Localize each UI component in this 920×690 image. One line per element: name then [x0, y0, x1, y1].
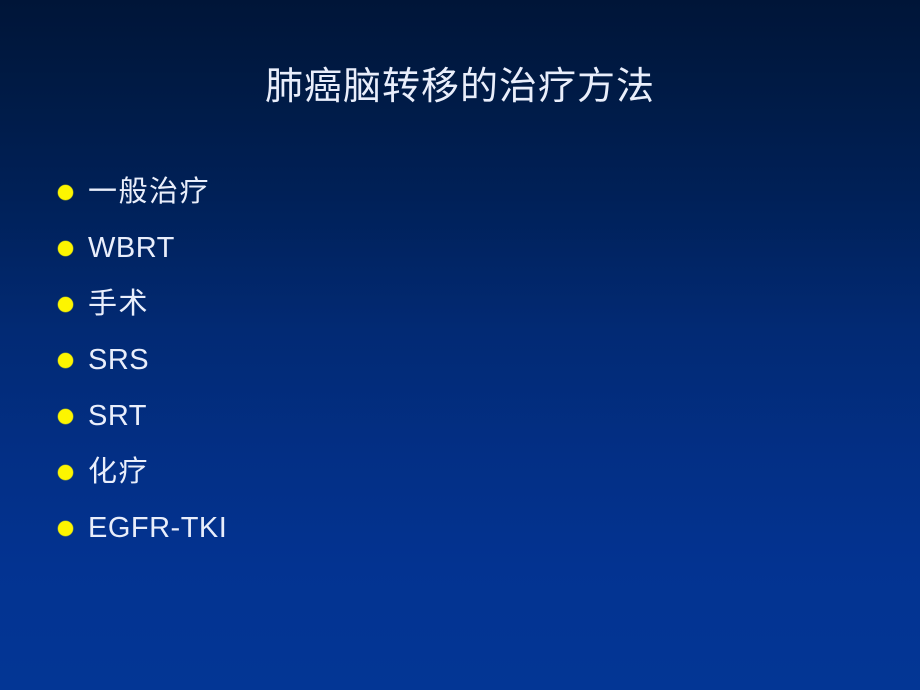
list-item[interactable]: WBRT: [58, 220, 838, 276]
list-item-label: EGFR-TKI: [88, 511, 838, 545]
presentation-slide: 肺癌脑转移的治疗方法 一般治疗 WBRT 手术 SRS SRT 化疗: [0, 0, 920, 690]
list-item-label: 手术: [88, 287, 838, 321]
list-item[interactable]: 手术: [58, 276, 838, 332]
filled-circle-bullet-icon: [58, 409, 73, 424]
list-item-label: SRS: [88, 343, 838, 377]
filled-circle-bullet-icon: [58, 465, 73, 480]
filled-circle-bullet-icon: [58, 241, 73, 256]
filled-circle-bullet-icon: [58, 521, 73, 536]
list-item[interactable]: EGFR-TKI: [58, 500, 838, 556]
filled-circle-bullet-icon: [58, 297, 73, 312]
list-item-label: 一般治疗: [88, 175, 838, 209]
list-item-label: 化疗: [88, 455, 838, 489]
list-item[interactable]: SRS: [58, 332, 838, 388]
filled-circle-bullet-icon: [58, 185, 73, 200]
list-item-label: WBRT: [88, 231, 838, 265]
list-item-label: SRT: [88, 399, 838, 433]
page-title: 肺癌脑转移的治疗方法: [265, 65, 655, 109]
list-item[interactable]: SRT: [58, 388, 838, 444]
list-item[interactable]: 化疗: [58, 444, 838, 500]
bullet-list: 一般治疗 WBRT 手术 SRS SRT 化疗 EGFR-TKI: [58, 164, 838, 556]
slide-title-block: 肺癌脑转移的治疗方法: [0, 40, 920, 135]
list-item[interactable]: 一般治疗: [58, 164, 838, 220]
filled-circle-bullet-icon: [58, 353, 73, 368]
